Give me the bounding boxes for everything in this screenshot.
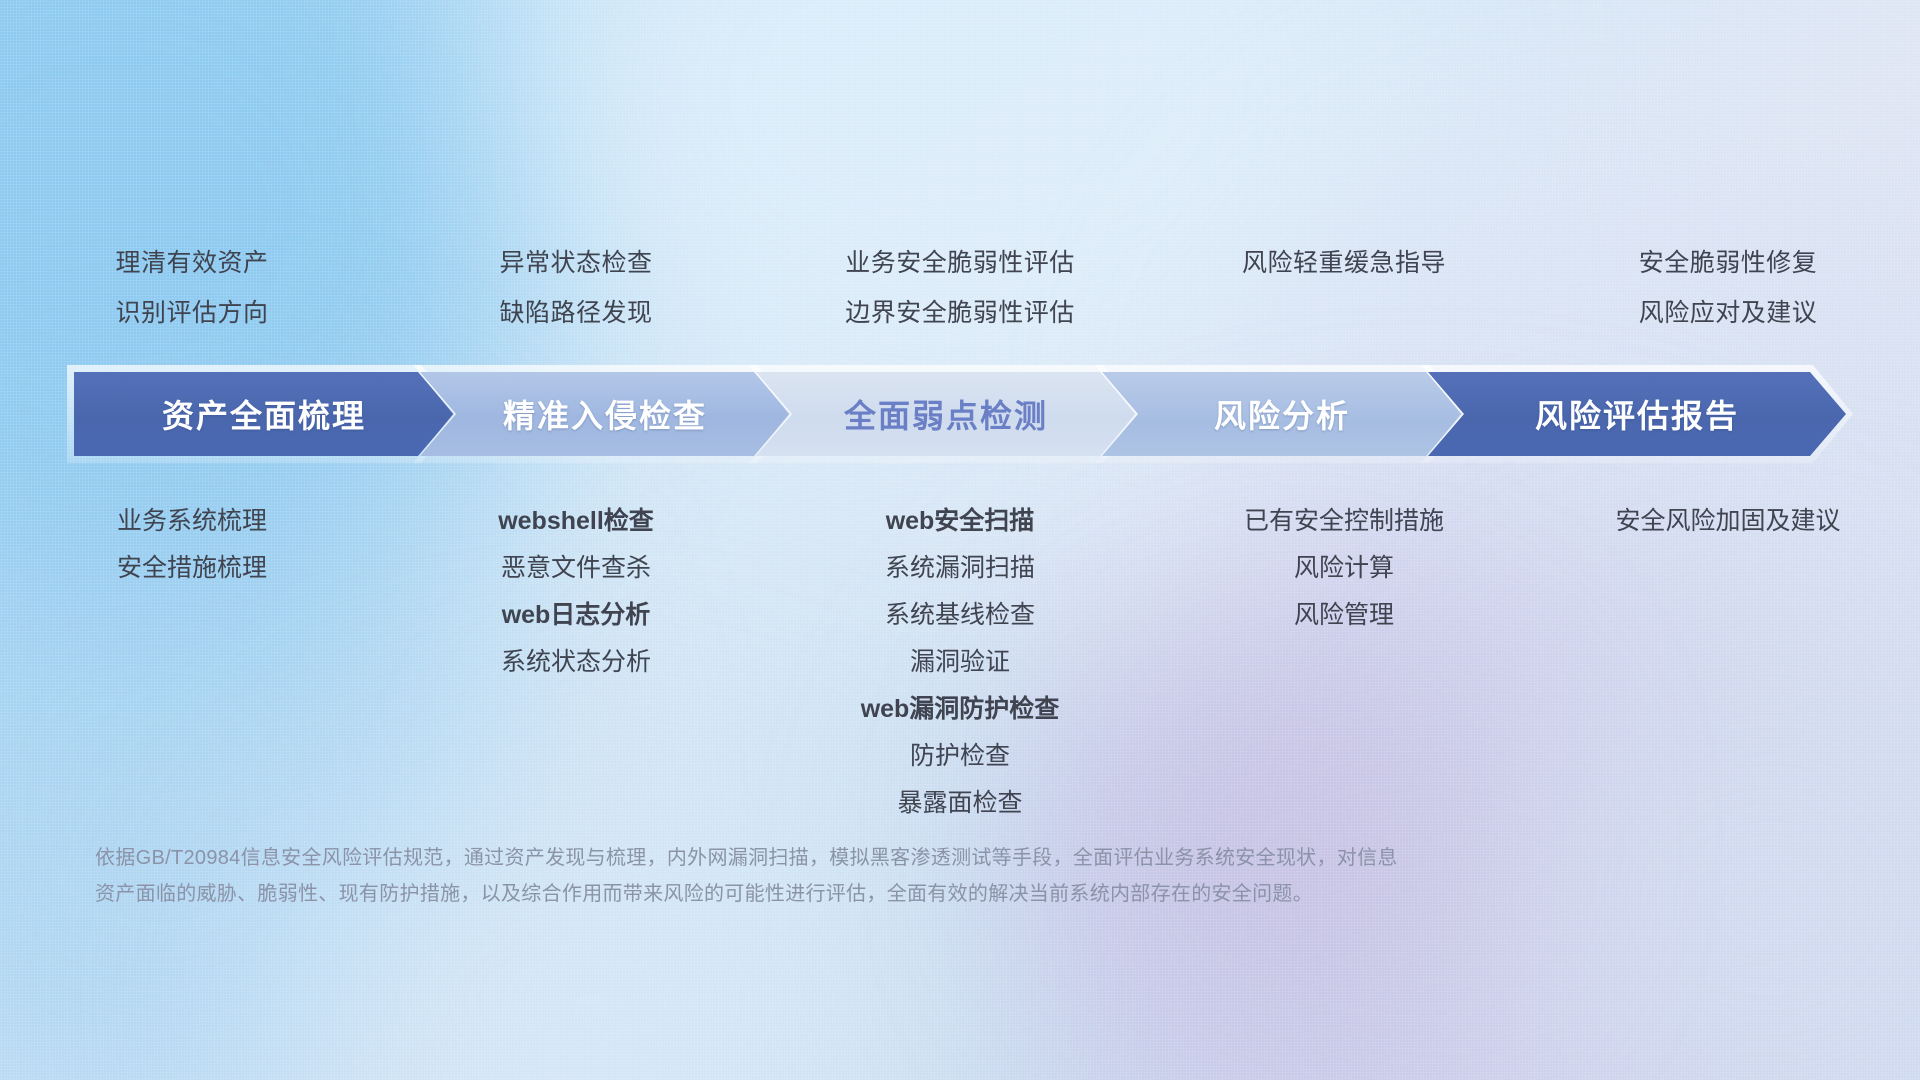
list-item: 已有安全控制措施 [1244, 498, 1444, 545]
stage-chevron-weakness-detection[interactable]: 全面弱点检测 [756, 372, 1136, 456]
stage-top-note: 风险应对及建议 [1639, 288, 1818, 338]
stage-details-weakness-detection: web安全扫描 系统漏洞扫描 系统基线检查 漏洞验证 web漏洞防护检查 防护检… [768, 498, 1152, 827]
stage-title: 风险评估报告 [1535, 391, 1739, 437]
stage-top-note: 识别评估方向 [115, 288, 268, 338]
list-item: web漏洞防护检查 [861, 686, 1060, 733]
list-item: 安全风险加固及建议 [1615, 498, 1840, 545]
stage-top-note: 理清有效资产 [115, 238, 268, 288]
list-item: web日志分析 [502, 592, 651, 639]
stage-top-notes-intrusion-check: 异常状态检查 缺陷路径发现 [384, 238, 768, 338]
stage-title: 风险分析 [1214, 391, 1350, 437]
stage-top-note: 缺陷路径发现 [499, 288, 652, 338]
list-item: 安全措施梳理 [117, 545, 267, 592]
stage-top-note: 边界安全脆弱性评估 [845, 288, 1075, 338]
list-item: 风险管理 [1294, 592, 1394, 639]
stage-top-note: 安全脆弱性修复 [1639, 238, 1818, 288]
stage-top-notes-risk-analysis: 风险轻重缓急指导 [1152, 238, 1536, 338]
stage-chevron-risk-analysis[interactable]: 风险分析 [1102, 372, 1462, 456]
footer-line-2: 资产面临的威胁、脆弱性、现有防护措施，以及综合作用而带来风险的可能性进行评估，全… [95, 876, 1515, 912]
stage-top-note: 业务安全脆弱性评估 [845, 238, 1075, 288]
list-item: 业务系统梳理 [117, 498, 267, 545]
list-item: 防护检查 [910, 733, 1010, 780]
list-item: webshell检查 [498, 498, 654, 545]
list-item: 暴露面检查 [897, 780, 1022, 827]
list-item: 风险计算 [1294, 545, 1394, 592]
stage-details-asset-inventory: 业务系统梳理 安全措施梳理 [0, 498, 384, 592]
stage-top-note: 风险轻重缓急指导 [1242, 238, 1446, 288]
list-item: 系统基线检查 [885, 592, 1035, 639]
list-item: 恶意文件查杀 [501, 545, 651, 592]
stage-chevron-asset-inventory[interactable]: 资产全面梳理 [74, 372, 454, 456]
stage-details-risk-analysis: 已有安全控制措施 风险计算 风险管理 [1152, 498, 1536, 639]
stage-top-note: 异常状态检查 [499, 238, 652, 288]
stage-title: 全面弱点检测 [844, 391, 1048, 437]
stage-chevron-band: 资产全面梳理 精准入侵检查 全面弱点检测 风险分析 风险评估报告 [74, 372, 1846, 456]
stage-top-notes-row: 理清有效资产 识别评估方向 异常状态检查 缺陷路径发现 业务安全脆弱性评估 边界… [0, 238, 1920, 338]
list-item: 系统漏洞扫描 [885, 545, 1035, 592]
list-item: web安全扫描 [886, 498, 1035, 545]
footer-line-1: 依据GB/T20984信息安全风险评估规范，通过资产发现与梳理，内外网漏洞扫描，… [95, 840, 1515, 876]
list-item: 系统状态分析 [501, 639, 651, 686]
stage-detail-row: 业务系统梳理 安全措施梳理 webshell检查 恶意文件查杀 web日志分析 … [0, 498, 1920, 827]
stage-top-notes-asset-inventory: 理清有效资产 识别评估方向 [0, 238, 384, 338]
stage-title: 精准入侵检查 [503, 391, 707, 437]
stage-chevron-intrusion-check[interactable]: 精准入侵检查 [420, 372, 790, 456]
list-item: 漏洞验证 [910, 639, 1010, 686]
stage-title: 资产全面梳理 [162, 391, 366, 437]
stage-details-risk-report: 安全风险加固及建议 [1536, 498, 1920, 545]
stage-chevron-risk-report[interactable]: 风险评估报告 [1428, 372, 1846, 456]
stage-top-notes-risk-report: 安全脆弱性修复 风险应对及建议 [1536, 238, 1920, 338]
stage-top-notes-weakness-detection: 业务安全脆弱性评估 边界安全脆弱性评估 [768, 238, 1152, 338]
footer-description: 依据GB/T20984信息安全风险评估规范，通过资产发现与梳理，内外网漏洞扫描，… [95, 840, 1515, 912]
stage-details-intrusion-check: webshell检查 恶意文件查杀 web日志分析 系统状态分析 [384, 498, 768, 686]
process-diagram: 理清有效资产 识别评估方向 异常状态检查 缺陷路径发现 业务安全脆弱性评估 边界… [0, 0, 1920, 1080]
